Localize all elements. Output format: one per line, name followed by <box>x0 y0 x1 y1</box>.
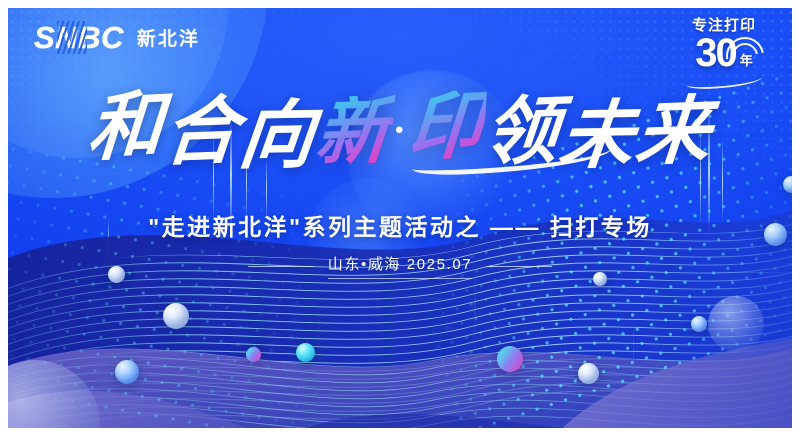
dateline: 山东•威海 2025.07 <box>8 253 792 279</box>
snbc-wordmark-icon: SNBC <box>34 22 124 53</box>
title-char: 印 <box>406 89 488 167</box>
anniversary-badge: 专注打印 30 年 <box>672 18 776 90</box>
title-char: 领 <box>481 95 564 172</box>
event-banner: SNBC 新北洋 专注打印 30 年 和合向新·印领未来 "走进新北洋"系列主题… <box>0 0 800 436</box>
brand-name-cn: 新北洋 <box>137 24 200 51</box>
floating-sphere <box>246 347 261 362</box>
banner-stage: SNBC 新北洋 专注打印 30 年 和合向新·印领未来 "走进新北洋"系列主题… <box>8 8 792 428</box>
title-char: 未 <box>556 99 640 174</box>
dateline-rule-left <box>248 266 314 267</box>
floating-sphere <box>163 303 189 329</box>
floating-sphere <box>497 346 523 372</box>
snbc-wordmark-text: SNBC <box>34 20 124 55</box>
title-char: 合 <box>161 95 244 172</box>
title-char: 和 <box>86 89 168 167</box>
anniversary-number-row: 30 年 <box>672 35 776 71</box>
title-separator-dot: · <box>394 110 406 150</box>
title-zone: 和合向新·印领未来 <box>8 96 792 170</box>
floating-sphere <box>578 363 599 384</box>
main-title: 和合向新·印领未来 <box>88 96 712 170</box>
subtitle: "走进新北洋"系列主题活动之 —— 扫打专场 <box>8 208 792 242</box>
title-char: 来 <box>633 95 716 172</box>
title-char: 向 <box>236 99 320 174</box>
floating-sphere <box>296 343 315 362</box>
title-char: 新 <box>313 95 396 172</box>
dateline-rule-right <box>486 266 552 267</box>
dateline-text: 山东•威海 2025.07 <box>328 253 472 279</box>
floating-sphere <box>708 296 764 352</box>
floating-sphere <box>691 316 707 332</box>
brand-logo[interactable]: SNBC 新北洋 <box>34 22 200 53</box>
floating-sphere <box>115 360 139 384</box>
